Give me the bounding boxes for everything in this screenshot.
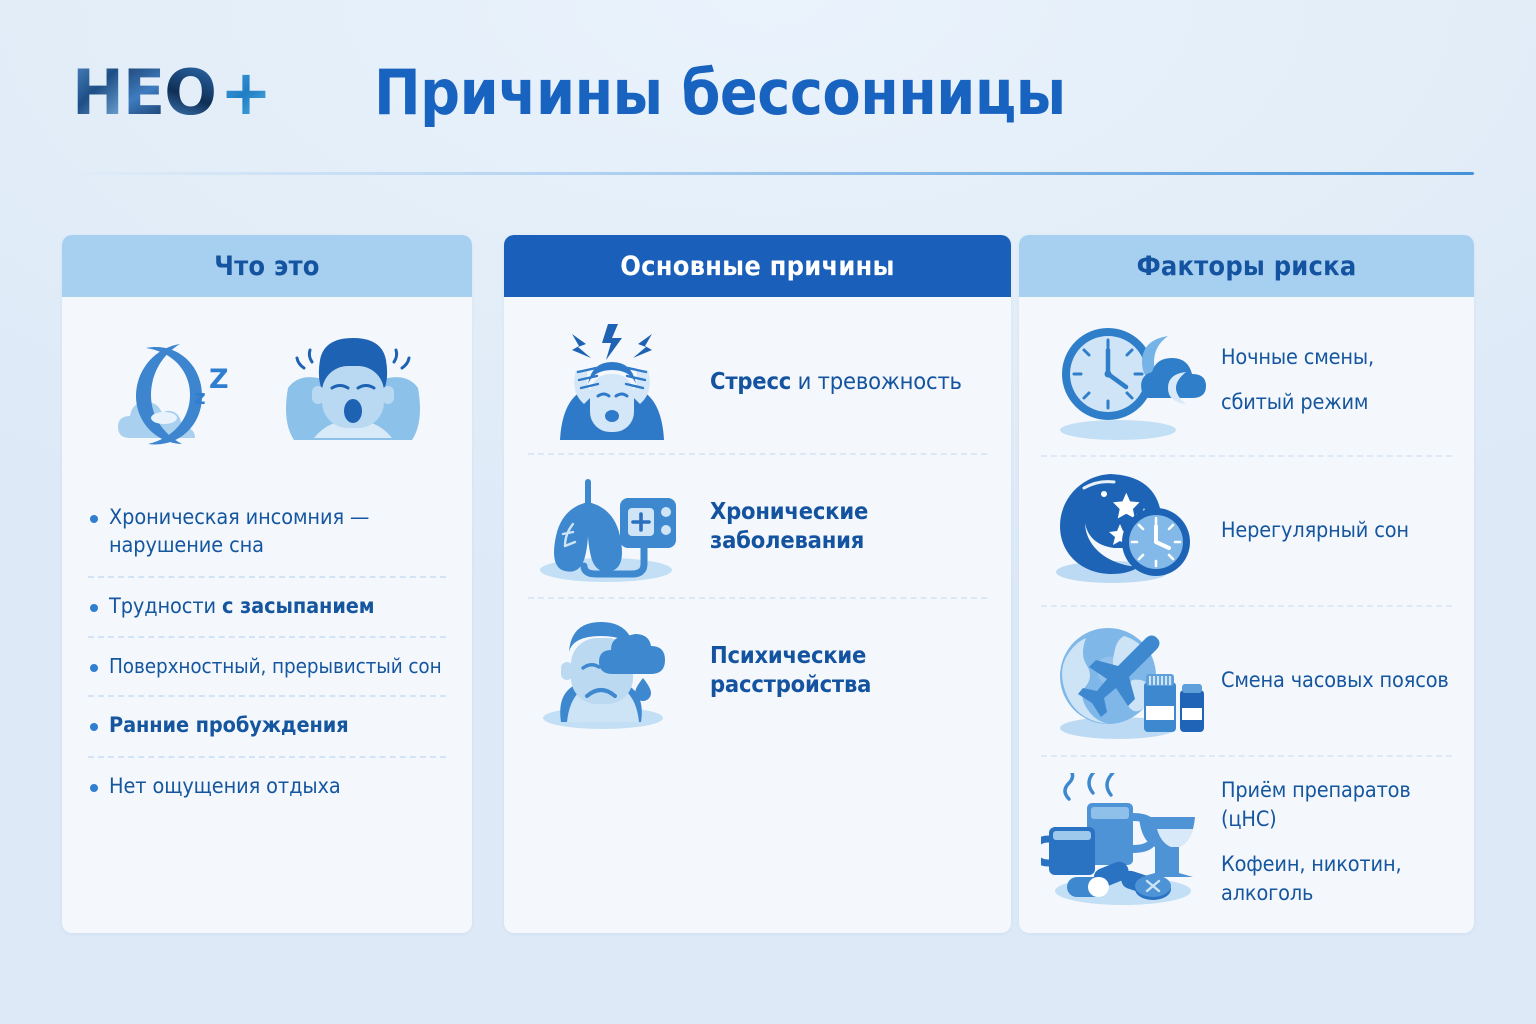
bullet-dot-icon xyxy=(90,604,98,612)
bullet-label: Трудности с засыпанием xyxy=(109,593,375,621)
list-item[interactable]: Ночные смены,сбитый режим xyxy=(1041,307,1452,457)
main-causes-list: Стресс и тревожность xyxy=(504,297,1011,741)
list-item[interactable]: Нерегулярный сон xyxy=(1041,457,1452,607)
bullet-label: Поверхностный, прерывистый сон xyxy=(109,653,442,680)
cause-label: Хронические заболевания xyxy=(710,497,987,556)
svg-text:z: z xyxy=(194,385,206,409)
moon-zzz-icon: Z z xyxy=(106,326,256,466)
risk-label: Смена часовых поясов xyxy=(1221,667,1449,696)
cause-label: Стресс и тревожность xyxy=(710,367,962,396)
risk-label-line1: Приём препаратов (цНС) xyxy=(1221,778,1411,832)
logo-letter-h: H xyxy=(72,62,123,124)
page-header: HEO+ Причины бессонницы xyxy=(0,0,1536,178)
card-what-it-is: Что это Z z xyxy=(62,235,472,933)
svg-text:Z: Z xyxy=(209,364,229,395)
card-header-what-it-is: Что это xyxy=(62,235,472,297)
globe-airplane-pills-icon xyxy=(1041,614,1211,748)
list-item[interactable]: Хронические заболевания xyxy=(528,455,987,599)
cause-label-emphasis: Стресс xyxy=(710,367,791,395)
risk-label-line1: Нерегулярный сон xyxy=(1221,518,1409,543)
logo-letter-o: O xyxy=(164,62,216,124)
list-item[interactable]: Ранние пробуждения xyxy=(88,697,446,757)
risk-factors-list: Ночные смены,сбитый режим xyxy=(1019,297,1474,929)
list-item[interactable]: Приём препаратов (цНС)Кофеин, никотин, а… xyxy=(1041,757,1452,929)
list-item[interactable]: Стресс и тревожность xyxy=(528,311,987,455)
risk-label-line1: Ночные смены, xyxy=(1221,345,1374,370)
bullet-label: Хроническая инсомния — нарушение сна xyxy=(109,504,444,561)
risk-label: Нерегулярный сон xyxy=(1221,517,1409,546)
coffee-wine-pills-icon xyxy=(1041,776,1211,910)
risk-label: Приём препаратов (цНС)Кофеин, никотин, а… xyxy=(1221,777,1452,908)
stress-headache-icon xyxy=(528,316,696,448)
brand-logo: HEO+ xyxy=(72,62,271,124)
bullet-dot-icon xyxy=(90,723,98,731)
risk-label-line2: Кофеин, никотин, алкоголь xyxy=(1221,851,1452,909)
risk-label-line1: Смена часовых поясов xyxy=(1221,668,1449,693)
sad-face-raincloud-icon xyxy=(528,604,696,736)
card-header-risk-factors: Факторы риска xyxy=(1019,235,1474,297)
logo-letter-e: E xyxy=(123,62,164,124)
bullet-list: Хроническая инсомния — нарушение сна Тру… xyxy=(62,489,472,816)
bullet-label-pre: Трудности xyxy=(109,594,222,619)
list-item[interactable]: Смена часовых поясов xyxy=(1041,607,1452,757)
hero-illustration: Z z xyxy=(62,297,472,489)
risk-label-line2: сбитый режим xyxy=(1221,389,1374,418)
card-header-main-causes: Основные причины xyxy=(504,235,1011,297)
sleeping-person-icon xyxy=(278,326,428,466)
page-title: Причины бессонницы xyxy=(374,56,1066,129)
bullet-dot-icon xyxy=(90,515,98,523)
risk-label: Ночные смены,сбитый режим xyxy=(1221,344,1374,418)
infographic-page: HEO+ Причины бессонницы Что это Z xyxy=(0,0,1536,1024)
card-main-causes: Основные причины xyxy=(504,235,1011,933)
bullet-label: Нет ощущения отдыха xyxy=(109,773,341,801)
bullet-label-emphasis: с засыпанием xyxy=(222,594,375,619)
columns-container: Что это Z z xyxy=(62,235,1474,933)
list-item[interactable]: Нет ощущения отдыха xyxy=(88,758,446,816)
cause-label-emphasis: Хронические заболевания xyxy=(710,497,868,554)
list-item[interactable]: Хроническая инсомния — нарушение сна xyxy=(88,489,446,578)
cause-label: Психические расстройства xyxy=(710,641,987,700)
list-item[interactable]: Трудности с засыпанием xyxy=(88,578,446,638)
logo-plus-icon: + xyxy=(220,62,271,124)
bullet-dot-icon xyxy=(90,664,98,672)
cause-label-emphasis: Психические расстройства xyxy=(710,641,871,698)
card-body-risk-factors: Ночные смены,сбитый режим xyxy=(1019,297,1474,933)
card-body-what-it-is: Z z xyxy=(62,297,472,933)
lungs-blood-pressure-icon xyxy=(528,460,696,592)
bullet-label: Ранние пробуждения xyxy=(109,712,349,740)
card-body-main-causes: Стресс и тревожность xyxy=(504,297,1011,933)
clock-moon-icon xyxy=(1041,314,1211,448)
bullet-dot-icon xyxy=(90,784,98,792)
card-risk-factors: Факторы риска xyxy=(1019,235,1474,933)
cause-label-rest: и тревожность xyxy=(791,367,962,395)
list-item[interactable]: Поверхностный, прерывистый сон xyxy=(88,638,446,697)
header-divider xyxy=(62,172,1474,175)
crescent-stars-clock-icon xyxy=(1041,464,1211,598)
list-item[interactable]: Психические расстройства xyxy=(528,599,987,741)
